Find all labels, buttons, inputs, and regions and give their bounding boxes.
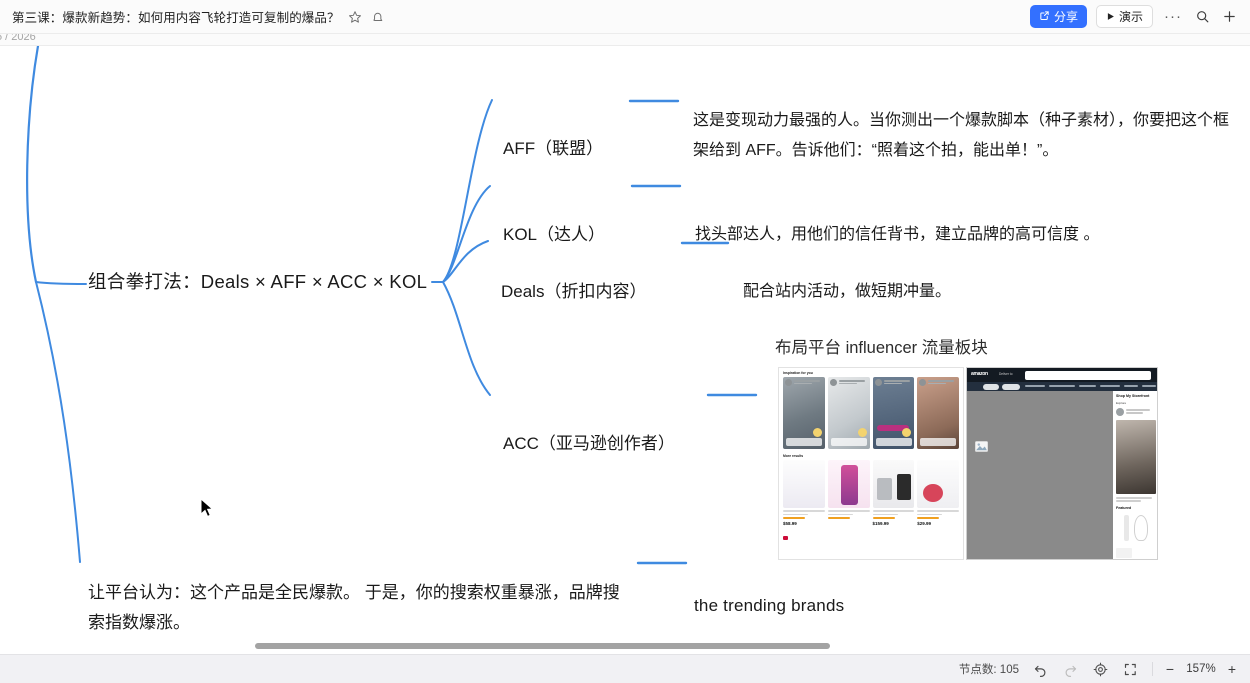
- storefront-subtitle: Explore: [1116, 401, 1156, 405]
- amazon-logo: amazon: [971, 371, 988, 377]
- mindmap-node-kol[interactable]: KOL（达人）: [503, 220, 605, 245]
- amazon-search-bar[interactable]: [1025, 371, 1151, 380]
- share-button-label: 分享: [1054, 11, 1078, 23]
- status-bar: 节点数: 105 − 157% +: [0, 654, 1250, 683]
- inspire-card[interactable]: [783, 377, 825, 449]
- mindmap-node-acc[interactable]: ACC（亚马逊创作者）: [503, 429, 675, 454]
- undo-icon[interactable]: [1032, 661, 1049, 678]
- page-indicator-strip: 6 / 2026: [0, 34, 1250, 46]
- mini-product-card[interactable]: [1116, 548, 1132, 558]
- mouse-pointer: [200, 498, 214, 518]
- zoom-in-button[interactable]: +: [1226, 662, 1238, 676]
- product-card[interactable]: $58.99: [783, 460, 825, 544]
- zoom-controls: − 157% +: [1152, 662, 1238, 676]
- mindmap-node-kol-description[interactable]: 找头部达人，用他们的信任背书，建立品牌的高可信度 。: [695, 220, 1099, 244]
- inspire-card[interactable]: [873, 377, 915, 449]
- redo-icon[interactable]: [1062, 661, 1079, 678]
- amazon-header: amazon Deliver to: [967, 368, 1157, 382]
- plus-icon[interactable]: [1220, 8, 1238, 26]
- product-grid: $58.99: [779, 460, 963, 544]
- star-icon[interactable]: [347, 9, 363, 25]
- inspire-results-title: More results: [779, 449, 963, 460]
- fit-screen-icon[interactable]: [1122, 661, 1139, 678]
- product-price: $159.99: [873, 521, 915, 526]
- toolbar-right-group: 分享 演示 ···: [1030, 5, 1250, 28]
- inspire-card[interactable]: [917, 377, 959, 449]
- zoom-out-button[interactable]: −: [1164, 662, 1176, 676]
- share-external-icon: [1039, 10, 1050, 23]
- top-toolbar: 第三课：爆款新趋势：如何用内容飞轮打造可复制的爆品？ 分享: [0, 0, 1250, 34]
- product-card[interactable]: $29.99: [917, 460, 959, 544]
- mindmap-node-bottom[interactable]: 让平台认为：这个产品是全民爆款。 于是，你的搜索权重暴涨，品牌搜索指数爆涨。: [88, 578, 628, 638]
- inspire-card[interactable]: [828, 377, 870, 449]
- mindmap-node-trending-brands[interactable]: the trending brands: [694, 596, 844, 616]
- more-options-button[interactable]: ···: [1162, 12, 1184, 22]
- mindmap-node-deals[interactable]: Deals（折扣内容）: [501, 277, 646, 302]
- creator-video-thumbnail[interactable]: [1116, 420, 1156, 494]
- mindmap-node-deals-description[interactable]: 配合站内活动，做短期冲量。: [743, 277, 951, 301]
- amazon-nav-bar: [967, 382, 1157, 391]
- product-card[interactable]: $159.99: [873, 460, 915, 544]
- image-placeholder-icon: [975, 439, 988, 450]
- mindmap-node-aff-description[interactable]: 这是变现动力最强的人。当你测出一个爆款脚本（种子素材），你要把这个框架给到 AF…: [693, 106, 1241, 166]
- amazon-storefront-screenshot[interactable]: amazon Deliver to: [966, 367, 1158, 560]
- target-icon[interactable]: [1092, 661, 1109, 678]
- amazon-page-body: Shop My Storefront Explore Featured: [967, 391, 1157, 560]
- product-illustration: [1116, 515, 1156, 541]
- page-count-label: 6 / 2026: [0, 34, 36, 43]
- scrollbar-thumb[interactable]: [255, 643, 830, 649]
- bell-icon[interactable]: [370, 9, 386, 25]
- product-price: [828, 521, 870, 526]
- inspire-card-row: [779, 377, 963, 449]
- mindmap-node-aff[interactable]: AFF（联盟）: [503, 134, 603, 159]
- inspire-section-title: Inspiration for you: [779, 368, 963, 377]
- node-count-label: 节点数: 105: [959, 661, 1019, 677]
- content-mask-overlay: [967, 391, 1113, 560]
- product-deal-badge: [783, 536, 788, 540]
- product-card[interactable]: [828, 460, 870, 544]
- mindmap-node-image-caption[interactable]: 布局平台 influencer 流量板块: [775, 334, 988, 358]
- amazon-delivery-address: Deliver to: [999, 372, 1012, 376]
- storefront-side-panel: Shop My Storefront Explore Featured: [1113, 391, 1158, 560]
- product-price: $58.99: [783, 521, 825, 526]
- amazon-inspire-feed-screenshot[interactable]: Inspiration for you More results: [778, 367, 964, 560]
- zoom-level-label[interactable]: 157%: [1184, 663, 1218, 675]
- mindmap-app: 第三课：爆款新趋势：如何用内容飞轮打造可复制的爆品？ 分享: [0, 0, 1250, 683]
- search-icon[interactable]: [1193, 8, 1211, 26]
- product-price: $29.99: [917, 521, 959, 526]
- featured-title: Featured: [1116, 506, 1156, 510]
- share-button[interactable]: 分享: [1030, 5, 1087, 28]
- creator-profile[interactable]: [1116, 408, 1156, 416]
- document-title[interactable]: 第三课：爆款新趋势：如何用内容飞轮打造可复制的爆品？: [12, 7, 340, 26]
- storefront-title: Shop My Storefront: [1116, 394, 1156, 398]
- present-button-label: 演示: [1119, 11, 1143, 23]
- mindmap-canvas[interactable]: 组合拳打法：Deals × AFF × ACC × KOL AFF（联盟） 这是…: [0, 46, 1250, 653]
- toolbar-left-group: 第三课：爆款新趋势：如何用内容飞轮打造可复制的爆品？: [0, 7, 1030, 26]
- mindmap-root-node[interactable]: 组合拳打法：Deals × AFF × ACC × KOL: [88, 268, 427, 294]
- avatar: [1116, 408, 1124, 416]
- horizontal-scrollbar[interactable]: [0, 639, 1250, 653]
- present-button[interactable]: 演示: [1096, 5, 1153, 28]
- play-icon: [1106, 11, 1115, 23]
